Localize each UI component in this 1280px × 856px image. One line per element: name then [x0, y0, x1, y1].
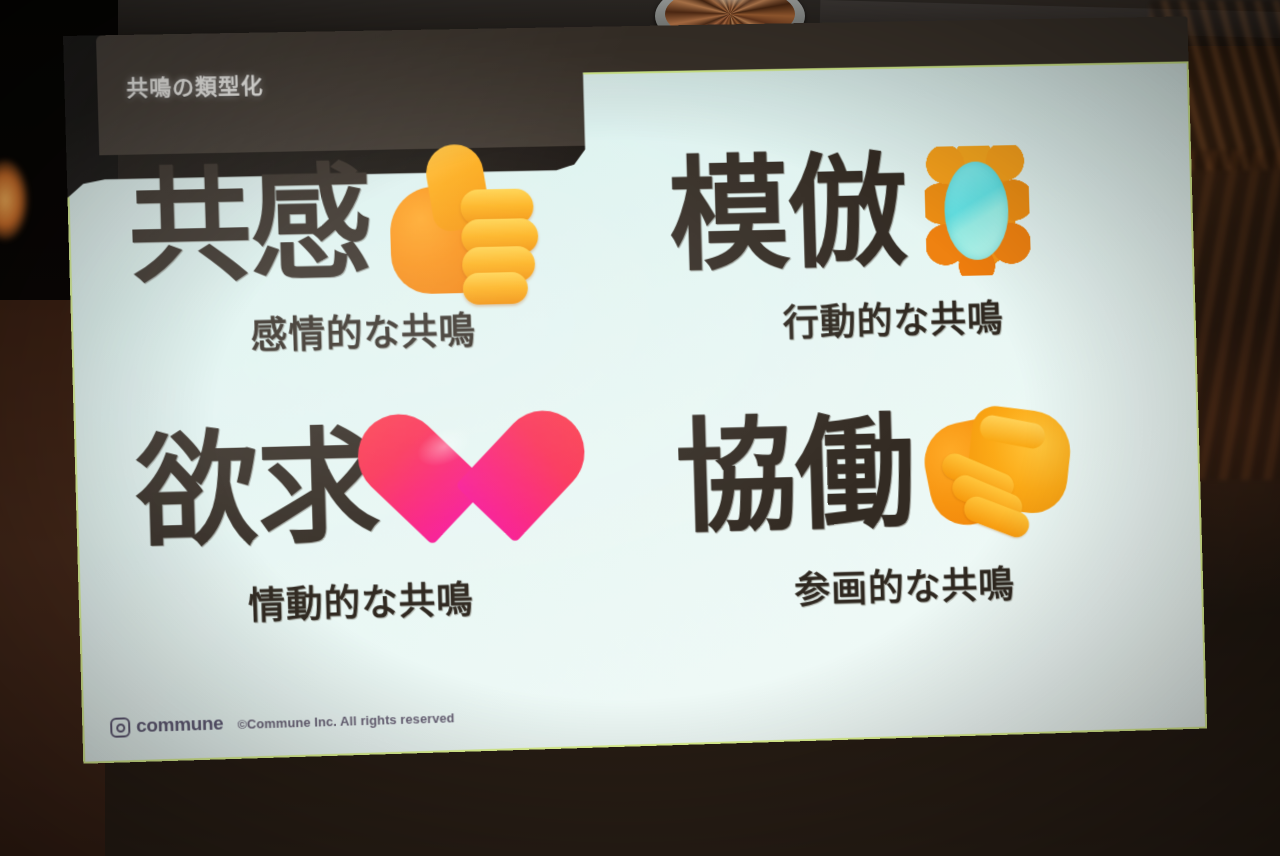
brand-name: commune — [136, 713, 224, 738]
quadrant-mohou-row: 模倣 — [651, 125, 1147, 301]
quadrant-yokkyu-row: 欲求 — [133, 397, 639, 577]
quadrant-kyoudou-subtitle: 参画的な共鳴 — [793, 551, 1155, 614]
slide-perspective-quad: 共鳴の類型化 共感 — [63, 16, 1207, 763]
mirror-emoji — [918, 141, 1038, 281]
thumb-knuckle-4 — [462, 272, 528, 305]
quadrant-kyokan-row: 共感 — [126, 135, 632, 313]
quadrant-yokkyu-word: 欲求 — [134, 425, 379, 555]
quadrant-mohou-word: 模倣 — [667, 151, 908, 278]
quadrant-kyokan-word: 共感 — [127, 162, 373, 291]
handshake-emoji — [925, 400, 1073, 541]
slide-stage: 共鳴の類型化 共感 — [0, 0, 1280, 856]
quadrant-mohou: 模倣 行動的な共鳴 — [651, 125, 1150, 387]
typology-grid: 共感 感情的な共鳴 — [126, 125, 1157, 664]
copyright-text: ©Commune Inc. All rights reserved — [237, 710, 455, 732]
slide: 共鳴の類型化 共感 — [63, 16, 1207, 763]
quadrant-kyoudou: 協働 参画的な共鳴 — [658, 384, 1156, 648]
heart-shape — [394, 415, 553, 556]
projected-slide-photo: 共鳴の類型化 共感 — [0, 0, 1280, 856]
brand-lockup: commune — [110, 713, 224, 738]
quadrant-kyokan: 共感 感情的な共鳴 — [126, 135, 635, 399]
quadrant-mohou-subtitle: 行動的な共鳴 — [782, 285, 1148, 347]
quadrant-yokkyu-subtitle: 情動的な共鳴 — [247, 565, 640, 630]
quadrant-kyoudou-word: 協働 — [674, 412, 914, 540]
commune-logo-icon — [110, 717, 131, 738]
page-title: 共鳴の類型化 — [126, 68, 264, 102]
quadrant-kyokan-subtitle: 感情的な共鳴 — [250, 297, 634, 359]
thumbs-up-emoji — [382, 141, 539, 303]
heart-emoji — [389, 407, 558, 562]
quadrant-kyoudou-row: 協働 — [658, 384, 1154, 562]
quadrant-yokkyu: 欲求 情動的な共鳴 — [133, 397, 641, 664]
